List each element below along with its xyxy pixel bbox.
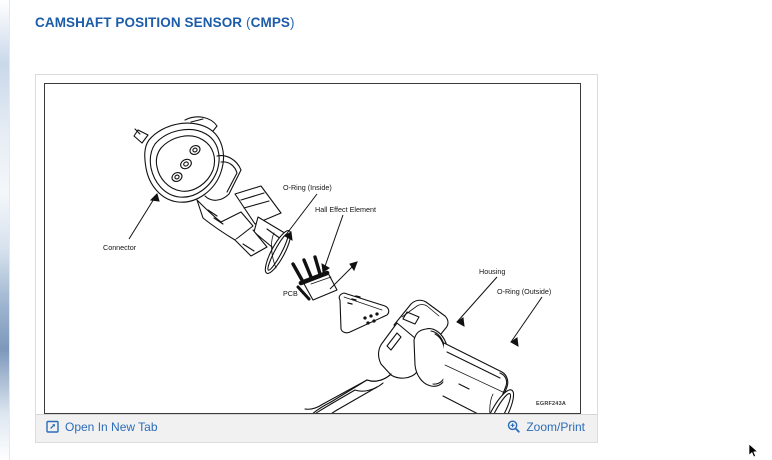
mouse-cursor — [748, 443, 760, 459]
zoom-print-label: Zoom/Print — [526, 421, 585, 433]
camshaft-position-sensor-diagram[interactable]: Connector O-Ring (Inside) Hall Effect El… — [45, 84, 580, 413]
open-in-new-tab-label: Open In New Tab — [65, 421, 158, 433]
page-title-main: CAMSHAFT POSITION SENSOR — [35, 15, 246, 30]
label-housing: Housing — [479, 267, 505, 276]
page-title-paren-close: ) — [290, 15, 295, 30]
open-in-new-tab-button[interactable]: Open In New Tab — [46, 420, 158, 433]
label-hall-effect-element: Hall Effect Element — [315, 205, 376, 214]
page-chrome-edge — [9, 0, 10, 460]
label-connector: Connector — [103, 243, 137, 252]
label-oring-outside: O-Ring (Outside) — [497, 287, 551, 296]
figure-action-bar: Open In New Tab Zoom/Print — [36, 414, 597, 442]
external-link-icon — [46, 420, 59, 433]
label-pcb: PCB — [283, 289, 298, 298]
figure-code: EGRF243A — [536, 401, 566, 407]
zoom-print-button[interactable]: Zoom/Print — [507, 420, 585, 433]
figure-image-frame[interactable]: Connector O-Ring (Inside) Hall Effect El… — [44, 83, 581, 414]
page-title-abbreviation: CMPS — [251, 15, 290, 30]
figure-panel: Connector O-Ring (Inside) Hall Effect El… — [35, 74, 598, 443]
magnifier-plus-icon — [507, 420, 520, 433]
label-oring-inside: O-Ring (Inside) — [283, 183, 332, 192]
page-title: CAMSHAFT POSITION SENSOR (CMPS) — [35, 15, 295, 30]
